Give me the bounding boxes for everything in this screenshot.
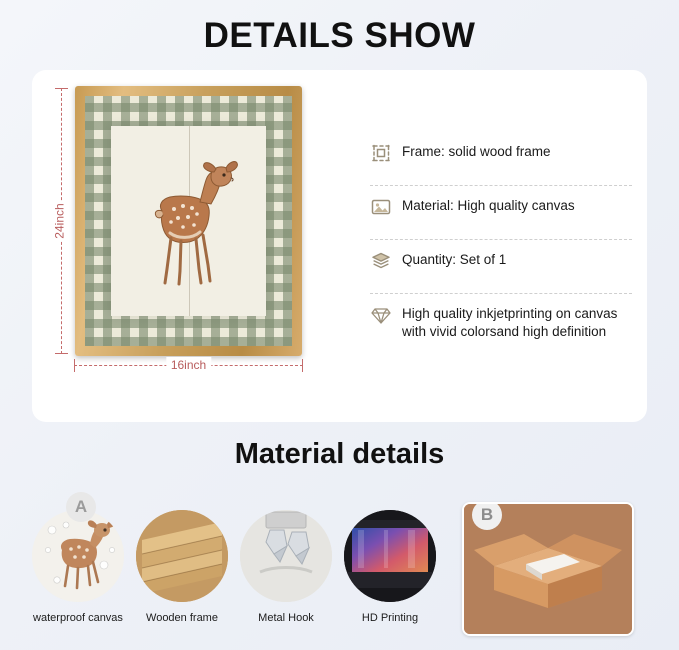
material-caption-print: HD Printing [342,612,438,624]
width-cap-left [74,359,75,372]
width-cap-right [302,359,303,372]
diamond-icon [370,304,392,326]
spec-text-printing: High quality inkjetprinting on canvas wi… [402,303,632,341]
spec-row-printing: High quality inkjetprinting on canvas wi… [370,294,632,351]
width-dimension-label: 16inch [166,357,211,373]
packaging-photo: B [462,502,634,636]
deer-illustration [136,159,242,291]
height-dimension-label: 24inch [51,200,69,241]
hook-swatch [240,510,332,602]
framed-artwork [75,86,302,356]
canvas-swatch [32,510,124,602]
print-mat [111,126,266,316]
print-swatch [344,510,436,602]
product-detail-page: DETAILS SHOW [0,0,679,650]
width-dimension: 16inch [74,356,303,374]
section-title-material: Material details [0,438,679,471]
material-items: waterproof canvas [30,500,450,640]
spec-row-quantity: Quantity: Set of 1 [370,240,632,294]
badge-a: A [66,492,96,522]
height-cap-top [55,88,68,89]
spec-text-quantity: Quantity: Set of 1 [402,249,506,269]
spec-text-frame: Frame: solid wood frame [402,141,551,161]
material-caption-canvas: waterproof canvas [30,612,126,624]
frame-icon [370,142,392,164]
height-dimension: 24inch [52,88,72,354]
material-item-canvas: waterproof canvas [30,510,126,624]
wood-swatch [136,510,228,602]
spec-list: Frame: solid wood frame Material: High q… [370,132,632,351]
spec-row-frame: Frame: solid wood frame [370,132,632,186]
material-item-hook: Metal Hook [238,510,334,624]
height-cap-bottom [55,353,68,354]
canvas-print [85,96,292,346]
material-item-wood: Wooden frame [134,510,230,624]
spec-row-material: Material: High quality canvas [370,186,632,240]
page-title: DETAILS SHOW [0,16,679,56]
image-icon [370,196,392,218]
material-caption-hook: Metal Hook [238,612,334,624]
layers-icon [370,250,392,272]
material-item-print: HD Printing [342,510,438,624]
material-caption-wood: Wooden frame [134,612,230,624]
spec-text-material: Material: High quality canvas [402,195,575,215]
